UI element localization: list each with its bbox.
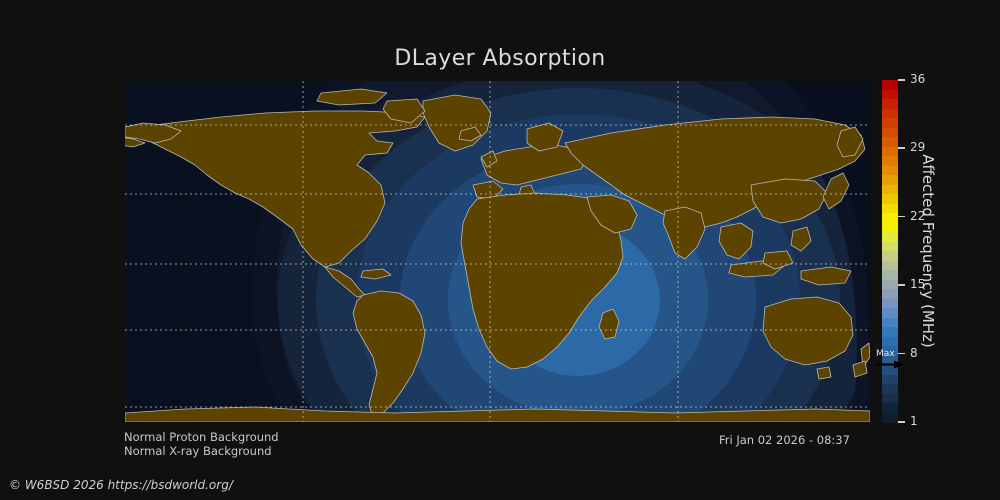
- colorbar: [882, 80, 898, 422]
- colorbar-axis-label: Affected Frequency (MHz): [915, 85, 937, 417]
- colorbar-tick: 36: [898, 80, 938, 81]
- timestamp: Fri Jan 02 2026 - 08:37: [719, 433, 850, 447]
- copyright-notice: © W6BSD 2026 https://bsdworld.org/: [9, 478, 233, 492]
- colorbar-tick: 1: [898, 422, 938, 423]
- colorbar-gradient: [882, 80, 898, 422]
- colorbar-tick-mark: [898, 79, 905, 81]
- colorbar-tick-label: 36: [910, 72, 925, 86]
- colorbar-tick-mark: [898, 147, 905, 149]
- note-xray-background: Normal X-ray Background: [124, 444, 272, 458]
- world-map: [125, 81, 870, 422]
- colorbar-tick-mark: [898, 421, 905, 423]
- page-title: DLayer Absorption: [0, 46, 1000, 71]
- map-svg: [125, 81, 870, 422]
- note-proton-background: Normal Proton Background: [124, 430, 279, 444]
- colorbar-segment: [882, 413, 898, 423]
- land-tasmania: [817, 367, 831, 379]
- plot-canvas: DLayer Absorption: [0, 0, 1000, 500]
- colorbar-tick-mark: [898, 284, 905, 286]
- colorbar-tick-mark: [898, 353, 905, 355]
- colorbar-tick-mark: [898, 216, 905, 218]
